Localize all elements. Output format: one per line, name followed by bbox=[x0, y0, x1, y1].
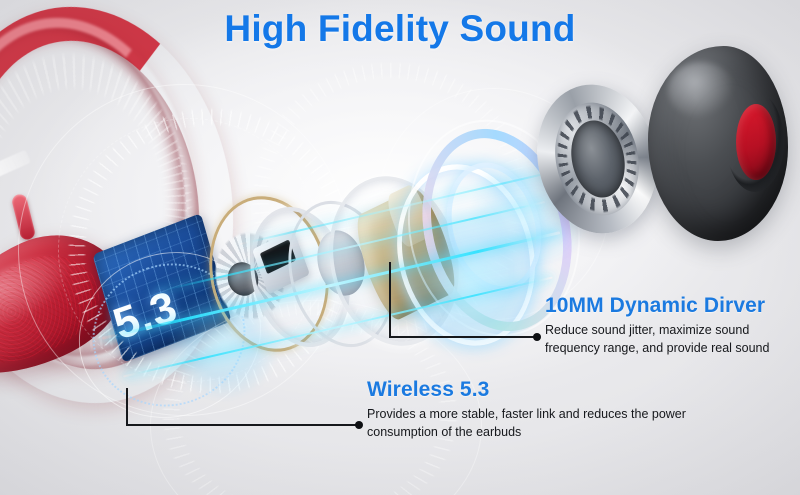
callout-driver-body-line-2: frequency range, and provide real sound bbox=[545, 340, 769, 358]
page-title: High Fidelity Sound bbox=[0, 8, 800, 50]
leader-dot-driver bbox=[533, 333, 541, 341]
ear-tip-opening bbox=[736, 104, 776, 180]
callout-wireless: Wireless 5.3 Provides a more stable, fas… bbox=[367, 378, 686, 442]
product-feature-banner: 5.3 High Fidelity Sound 10MM D bbox=[0, 0, 800, 495]
callout-driver-body-line-1: Reduce sound jitter, maximize sound bbox=[545, 322, 769, 340]
callout-driver-title: 10MM Dynamic Dirver bbox=[545, 294, 769, 317]
ear-tip-highlight bbox=[668, 62, 734, 118]
callout-driver-body: Reduce sound jitter, maximize sound freq… bbox=[545, 322, 769, 358]
callout-wireless-title: Wireless 5.3 bbox=[367, 378, 686, 401]
leader-dot-wireless bbox=[355, 421, 363, 429]
callout-driver: 10MM Dynamic Dirver Reduce sound jitter,… bbox=[545, 294, 769, 358]
callout-wireless-body-line-1: Provides a more stable, faster link and … bbox=[367, 406, 686, 424]
callout-wireless-body: Provides a more stable, faster link and … bbox=[367, 406, 686, 442]
callout-wireless-body-line-2: consumption of the earbuds bbox=[367, 424, 686, 442]
